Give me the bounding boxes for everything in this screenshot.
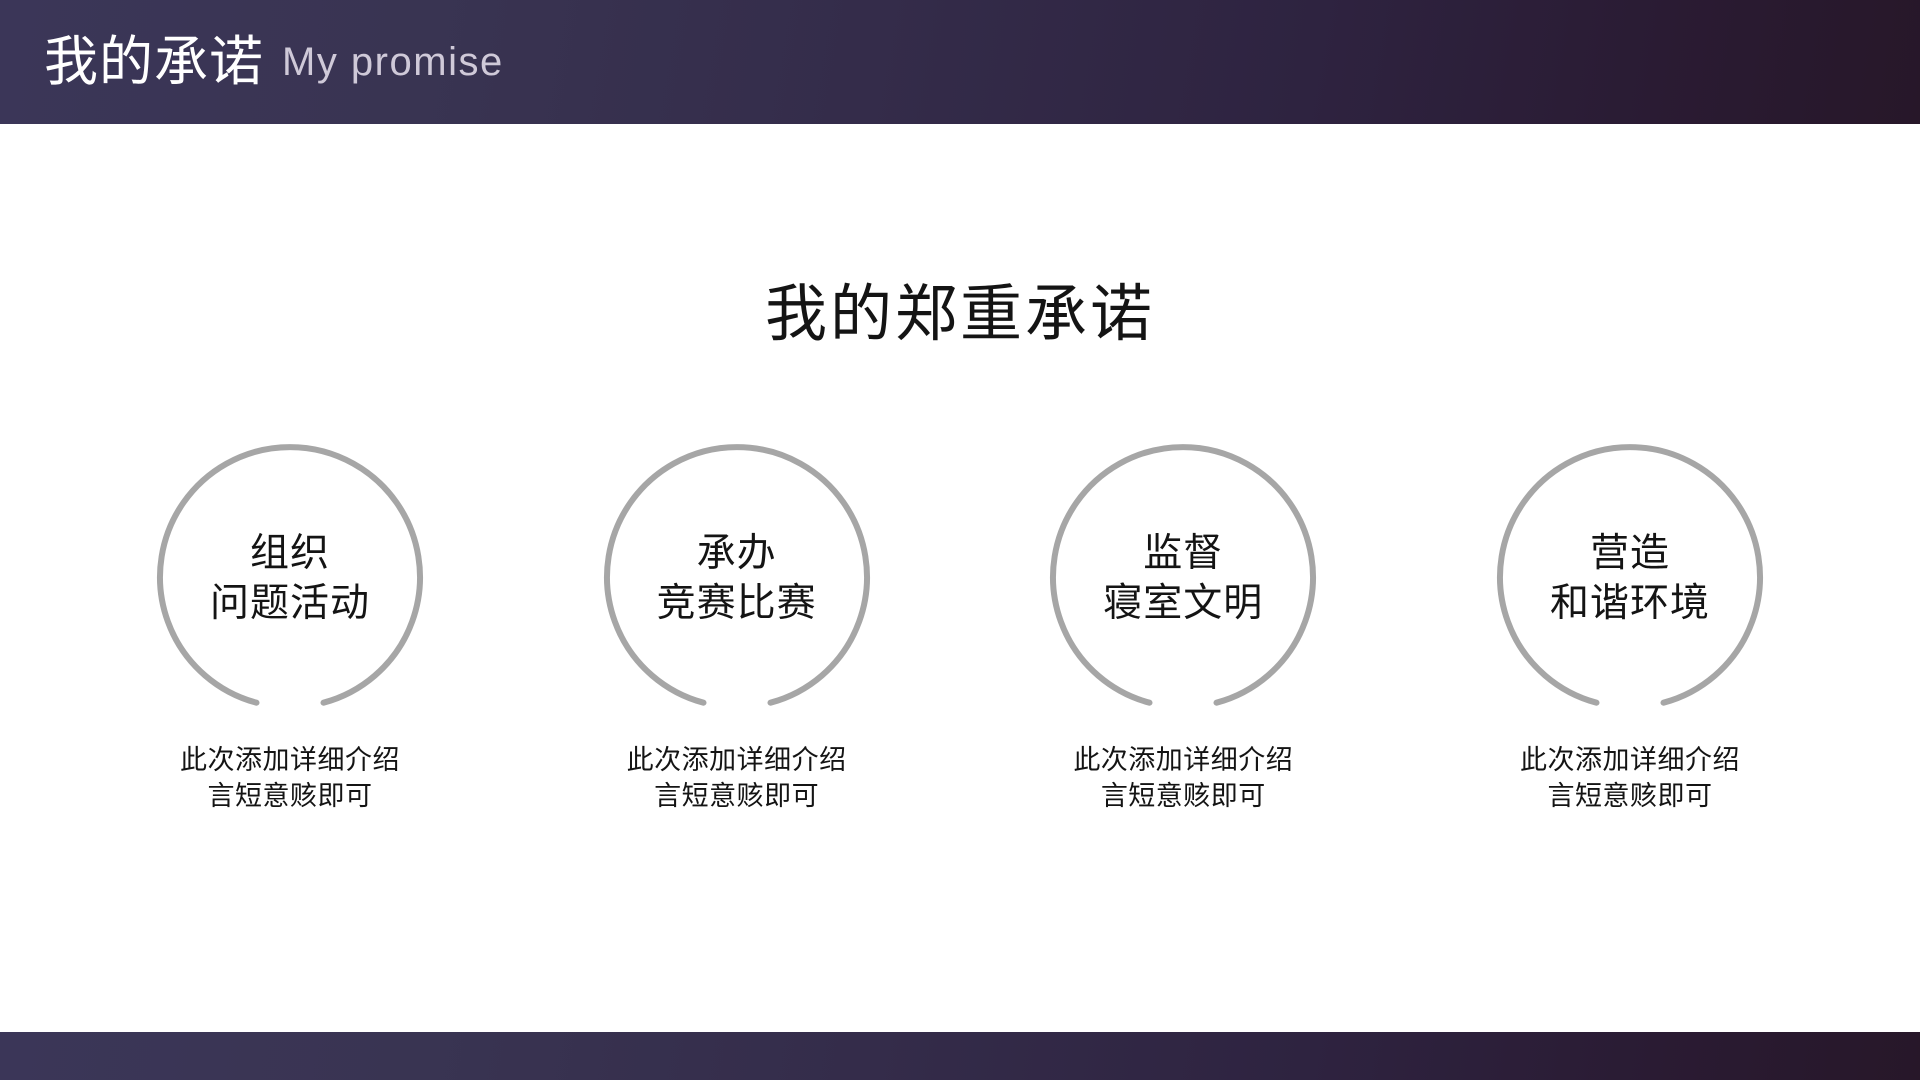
card-caption-line-2: 言短意赅即可 [1460, 778, 1800, 814]
promise-card[interactable]: 监督 寝室文明 此次添加详细介绍 言短意赅即可 [1013, 444, 1353, 815]
card-caption: 此次添加详细介绍 言短意赅即可 [567, 742, 907, 815]
slide-footer-band [0, 1032, 1920, 1080]
ring-graphic: 监督 寝室文明 [1048, 444, 1318, 714]
card-caption-line-2: 言短意赅即可 [567, 778, 907, 814]
card-caption-line-1: 此次添加详细介绍 [567, 742, 907, 778]
ring-label: 组织 问题活动 [187, 529, 393, 629]
card-caption: 此次添加详细介绍 言短意赅即可 [1460, 742, 1800, 815]
slide-content: 我的郑重承诺 组织 问题活动 此次添加详细介绍 言短意赅即可 承办 竞赛比赛 [0, 124, 1920, 1032]
ring-graphic: 营造 和谐环境 [1495, 444, 1765, 714]
page-title: 我的郑重承诺 [0, 284, 1920, 346]
card-caption-line-2: 言短意赅即可 [1013, 778, 1353, 814]
ring-graphic: 组织 问题活动 [155, 444, 425, 714]
promise-card[interactable]: 组织 问题活动 此次添加详细介绍 言短意赅即可 [120, 444, 460, 815]
card-caption-line-1: 此次添加详细介绍 [1013, 742, 1353, 778]
card-caption-line-2: 言短意赅即可 [120, 778, 460, 814]
header-title-chinese: 我的承诺 [44, 35, 264, 89]
promise-card-list: 组织 问题活动 此次添加详细介绍 言短意赅即可 承办 竞赛比赛 此次添加详细介绍… [120, 444, 1800, 815]
card-caption-line-1: 此次添加详细介绍 [1460, 742, 1800, 778]
ring-graphic: 承办 竞赛比赛 [602, 444, 872, 714]
ring-label: 监督 寝室文明 [1080, 529, 1286, 629]
card-caption: 此次添加详细介绍 言短意赅即可 [120, 742, 460, 815]
promise-card[interactable]: 承办 竞赛比赛 此次添加详细介绍 言短意赅即可 [567, 444, 907, 815]
card-caption-line-1: 此次添加详细介绍 [120, 742, 460, 778]
promise-card[interactable]: 营造 和谐环境 此次添加详细介绍 言短意赅即可 [1460, 444, 1800, 815]
slide-header-band: 我的承诺 My promise [0, 0, 1920, 124]
card-caption: 此次添加详细介绍 言短意赅即可 [1013, 742, 1353, 815]
ring-label: 承办 竞赛比赛 [634, 529, 840, 629]
header-title-english: My promise [282, 42, 504, 82]
ring-label: 营造 和谐环境 [1527, 529, 1733, 629]
